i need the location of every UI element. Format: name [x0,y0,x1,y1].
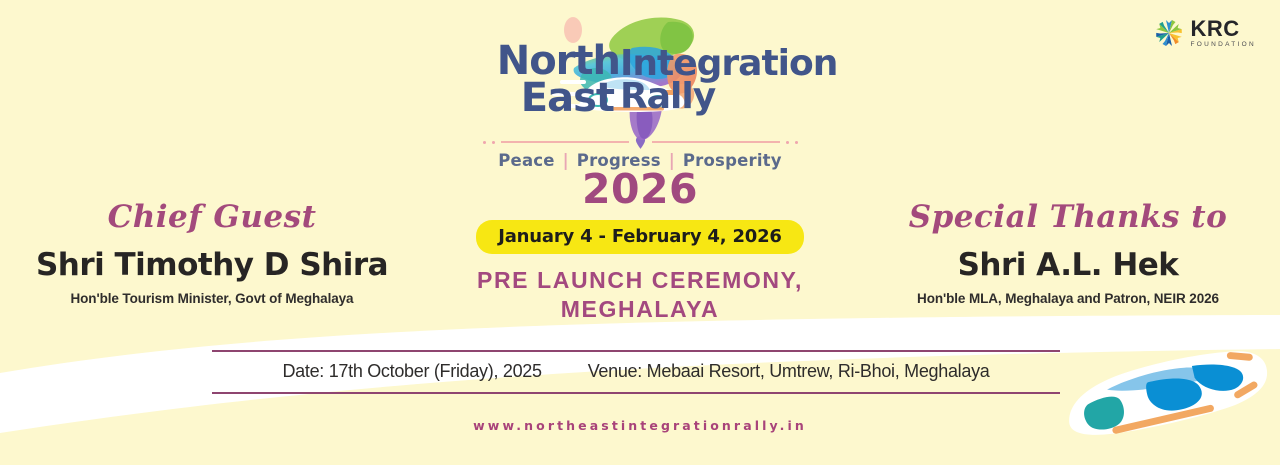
logo-word-east: East [460,80,620,117]
special-thanks-role: Hon'ble MLA, Meghalaya and Patron, NEIR … [868,291,1268,306]
event-venue-text: Venue: Mebaai Resort, Umtrew, Ri-Bhoi, M… [588,361,990,382]
ceremony-title: PRE LAUNCH CEREMONY, MEGHALAYA [425,266,855,325]
logo-right-words: Integration Rally [620,47,820,113]
event-info-strip: Date: 17th October (Friday), 2025 Venue:… [212,350,1060,394]
special-thanks-name: Shri A.L. Hek [868,248,1268,282]
special-thanks-block: Special Thanks to Shri A.L. Hek Hon'ble … [868,200,1268,306]
divider-line-right [652,141,780,143]
krc-name: KRC [1191,18,1257,40]
divider-dot-left-outer [483,141,486,144]
logo-word-rally: Rally [620,80,820,113]
special-thanks-label: Special Thanks to [868,200,1268,234]
chief-guest-label: Chief Guest [12,200,412,234]
chief-guest-block: Chief Guest Shri Timothy D Shira Hon'ble… [12,200,412,306]
divider-dot-right-outer [795,141,798,144]
location-pin-icon [635,136,646,149]
website-url[interactable]: www.northeastintegrationrally.in [0,418,1280,433]
event-banner: KRC FOUNDATION North East [0,0,1280,465]
tagline-divider [380,136,900,148]
krc-pinwheel-icon [1154,18,1184,48]
krc-subtitle: FOUNDATION [1191,42,1257,49]
center-event-details: 2026 January 4 - February 4, 2026 PRE LA… [425,168,855,325]
krc-wordmark: KRC FOUNDATION [1191,18,1257,49]
rally-car-illustration [1050,325,1280,465]
chief-guest-role: Hon'ble Tourism Minister, Govt of Meghal… [12,291,412,306]
ceremony-title-line2: MEGHALAYA [425,295,855,324]
divider-dot-right-inner [786,141,789,144]
ceremony-title-line1: PRE LAUNCH CEREMONY, [425,266,855,295]
chief-guest-name: Shri Timothy D Shira [12,248,412,282]
rally-logo-row: North East [380,26,900,134]
event-year: 2026 [425,168,855,211]
event-date-badge: January 4 - February 4, 2026 [476,220,804,254]
divider-dot-left-inner [492,141,495,144]
logo-left-words: North East [460,43,620,117]
divider-line-left [501,141,629,143]
krc-foundation-logo[interactable]: KRC FOUNDATION [1154,18,1257,49]
rally-logo: North East [380,26,900,170]
event-date-text: Date: 17th October (Friday), 2025 [282,361,541,382]
